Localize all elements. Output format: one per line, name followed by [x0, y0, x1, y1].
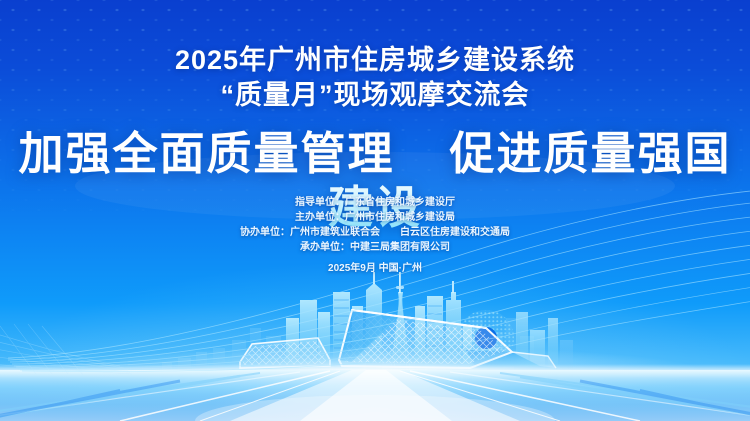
organizer-coorganizer: 协办单位：广州市建筑业联合会 白云区住房建设和交通局 [0, 225, 750, 240]
poster-text-block: 2025年广州市住房城乡建设系统 “质量月”现场观摩交流会 加强全面质量管理 促… [0, 0, 750, 421]
event-title-line-2: “质量月”现场观摩交流会 [0, 79, 750, 111]
organizer-host: 主办单位：广州市住房和城乡建设局 [0, 210, 750, 225]
organizer-undertaker: 承办单位：中建三局集团有限公司 [0, 240, 750, 255]
event-title-line-1: 2025年广州市住房城乡建设系统 [0, 44, 750, 76]
poster-canvas: 2025年广州市住房城乡建设系统 “质量月”现场观摩交流会 加强全面质量管理 促… [0, 0, 750, 421]
event-date-location: 2025年9月 中国·广州 [0, 261, 750, 276]
organizer-list: 指导单位：广东省住房和城乡建设厅 主办单位：广州市住房和城乡建设局 协办单位：广… [0, 195, 750, 255]
slogan-part-1: 加强全面质量管理 [18, 128, 394, 179]
organizer-guidance: 指导单位：广东省住房和城乡建设厅 [0, 195, 750, 210]
